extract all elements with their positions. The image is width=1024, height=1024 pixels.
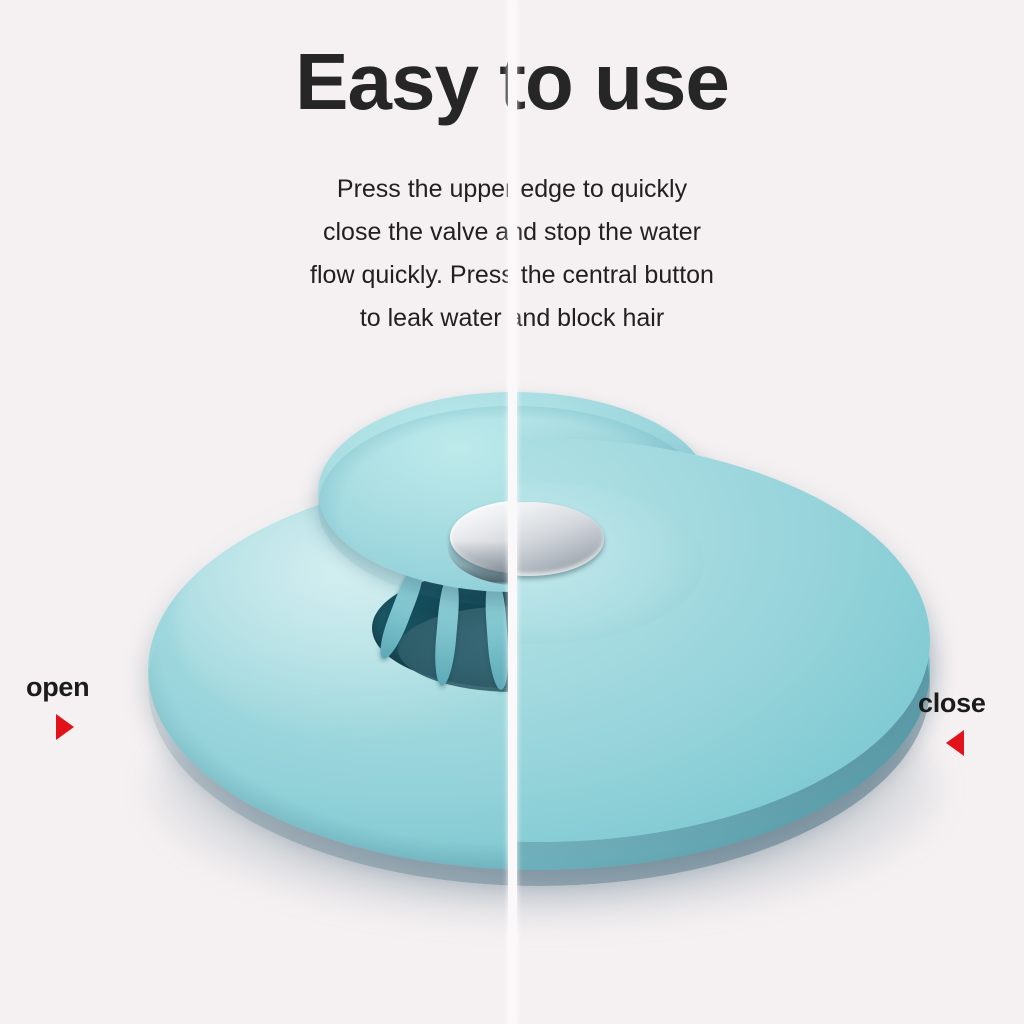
- product-infographic: Easy to use Press the upper edge to quic…: [0, 0, 1024, 1024]
- open-label: open: [26, 672, 89, 703]
- state-divider: [508, 0, 517, 1024]
- triangle-left-icon: [946, 730, 964, 756]
- triangle-right-icon: [56, 714, 74, 740]
- closed-state-half: [516, 360, 1024, 980]
- stopper-dome-closed: [516, 438, 930, 842]
- close-label: close: [918, 688, 986, 719]
